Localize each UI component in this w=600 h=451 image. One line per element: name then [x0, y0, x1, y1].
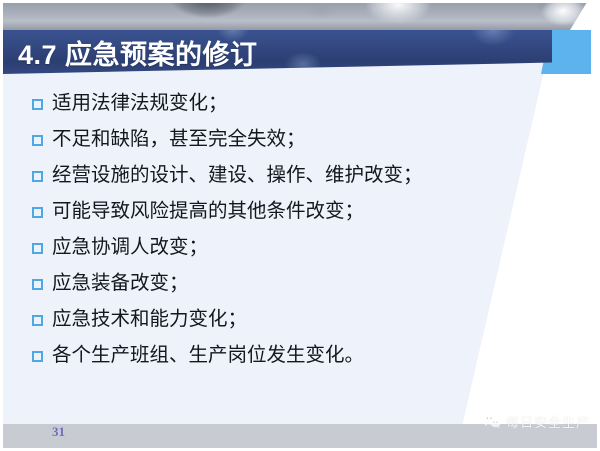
header-photo-band: [3, 3, 597, 34]
list-item-label: 适用法律法规变化；: [52, 92, 502, 116]
list-item-label: 应急装备改变；: [52, 272, 502, 296]
list-item-label: 应急协调人改变；: [52, 236, 502, 260]
watermark: 每日安全生产: [483, 412, 590, 431]
list-item-label: 不足和缺陷，甚至完全失效；: [52, 128, 502, 152]
list-item-label: 各个生产班组、生产岗位发生变化。: [52, 344, 502, 368]
square-outline-bullet-icon: [32, 171, 43, 182]
list-item: 应急装备改变；: [32, 272, 502, 308]
square-outline-bullet-icon: [32, 135, 43, 146]
list-item: 适用法律法规变化；: [32, 92, 502, 128]
bullet-list: 适用法律法规变化； 不足和缺陷，甚至完全失效； 经营设施的设计、建设、操作、维护…: [32, 92, 502, 380]
list-item: 应急技术和能力变化；: [32, 308, 502, 344]
square-outline-bullet-icon: [32, 99, 43, 110]
list-item-label: 可能导致风险提高的其他条件改变；: [52, 200, 502, 224]
list-item: 可能导致风险提高的其他条件改变；: [32, 200, 502, 236]
list-item-label: 经营设施的设计、建设、操作、维护改变；: [52, 164, 502, 188]
list-item: 经营设施的设计、建设、操作、维护改变；: [32, 164, 502, 200]
watermark-label: 每日安全生产: [506, 412, 590, 431]
list-item: 各个生产班组、生产岗位发生变化。: [32, 344, 502, 380]
list-item-label: 应急技术和能力变化；: [52, 308, 502, 332]
square-outline-bullet-icon: [32, 207, 43, 218]
square-outline-bullet-icon: [32, 315, 43, 326]
square-outline-bullet-icon: [32, 351, 43, 362]
list-item: 应急协调人改变；: [32, 236, 502, 272]
page-title: 4.7 应急预案的修订: [18, 33, 258, 72]
list-item: 不足和缺陷，甚至完全失效；: [32, 128, 502, 164]
wechat-icon: [483, 414, 501, 429]
presentation-slide: 4.7 应急预案的修订 适用法律法规变化； 不足和缺陷，甚至完全失效； 经营设施…: [0, 0, 600, 451]
page-number: 31: [52, 424, 65, 440]
square-outline-bullet-icon: [32, 243, 43, 254]
square-outline-bullet-icon: [32, 279, 43, 290]
